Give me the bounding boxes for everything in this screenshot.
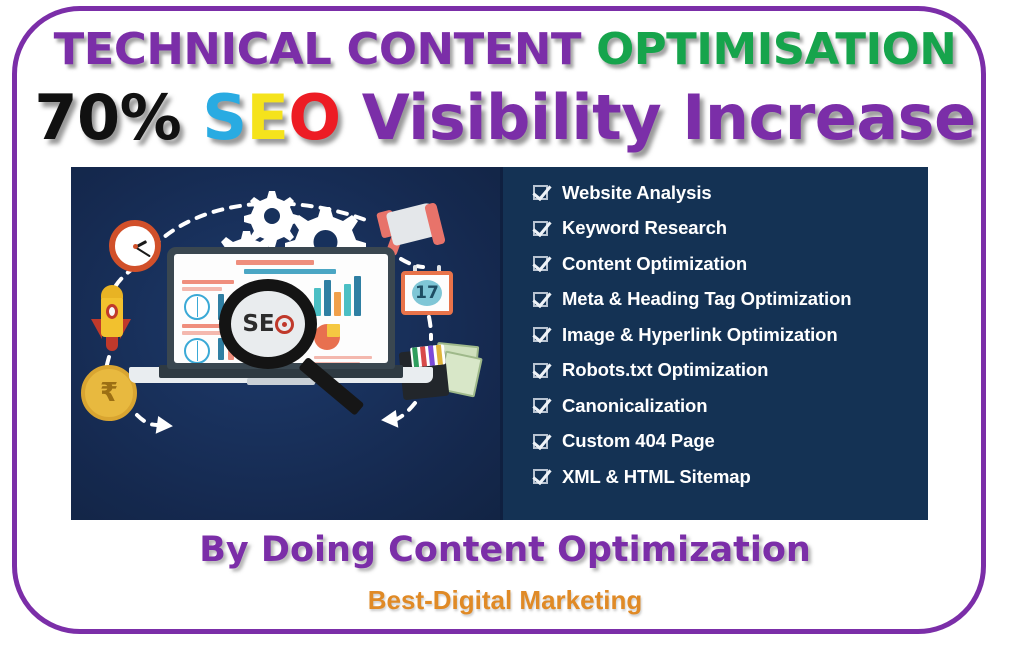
calendar-icon: 17 [401, 265, 453, 315]
rocket-icon [89, 285, 133, 355]
page-title: TECHNICAL CONTENT OPTIMISATION [0, 24, 1010, 76]
panel-divider [500, 167, 503, 520]
list-item-label: Image & Hyperlink Optimization [562, 324, 838, 346]
laptop-trackpad [247, 378, 315, 385]
rocket-nose [101, 285, 123, 298]
checkbox-checked-icon [533, 363, 548, 378]
calendar-body: 17 [401, 271, 453, 315]
headline-seo-letter-e: E [247, 81, 289, 154]
bullseye-target-icon [275, 315, 294, 334]
main-headline: 70% SEO Visibility Increase [0, 82, 1010, 154]
list-item: Keyword Research [533, 211, 923, 247]
list-item-label: Website Analysis [562, 182, 712, 204]
headline-seo-letter-o: O [288, 81, 340, 154]
checkbox-checked-icon [533, 327, 548, 342]
list-item: Meta & Heading Tag Optimization [533, 282, 923, 318]
wallet-card-4 [436, 345, 443, 365]
list-item-label: Custom 404 Page [562, 430, 715, 452]
clock-icon [109, 220, 161, 272]
list-item-label: XML & HTML Sitemap [562, 466, 751, 488]
wallet-card-2 [420, 346, 427, 366]
title-segment-technical-content: TECHNICAL CONTENT [54, 24, 596, 75]
checkbox-checked-icon [533, 469, 548, 484]
list-item-label: Meta & Heading Tag Optimization [562, 288, 852, 310]
wallet-card-3 [428, 345, 435, 365]
list-item-label: Robots.txt Optimization [562, 359, 768, 381]
list-item: Robots.txt Optimization [533, 353, 923, 389]
magnifier-se-text: SE [242, 311, 274, 337]
footer-tagline: By Doing Content Optimization [0, 530, 1010, 570]
clock-center-pin [133, 244, 138, 249]
checkbox-checked-icon [533, 256, 548, 271]
list-item-label: Keyword Research [562, 217, 727, 239]
list-item: Canonicalization [533, 388, 923, 424]
list-item: Content Optimization [533, 246, 923, 282]
illustration-left-area: ₹ [71, 167, 500, 520]
magnifier-icon: SE [219, 279, 317, 369]
wallet-card-1 [412, 347, 419, 367]
title-segment-optimisation: OPTIMISATION [596, 24, 956, 75]
rocket-flame [106, 336, 118, 351]
checkbox-checked-icon [533, 434, 548, 449]
list-item-label: Content Optimization [562, 253, 747, 275]
magnifier-seo-label: SE [242, 313, 293, 336]
list-item: XML & HTML Sitemap [533, 459, 923, 495]
checkbox-checked-icon [533, 398, 548, 413]
globe-icon-2 [184, 338, 210, 363]
feature-checklist: Website Analysis Keyword Research Conten… [533, 175, 923, 495]
checkbox-checked-icon [533, 292, 548, 307]
footer-brand: Best-Digital Marketing [0, 585, 1010, 616]
illustration-panel: ₹ [71, 167, 928, 520]
wallet-cards [410, 344, 446, 367]
rocket-window [106, 304, 118, 319]
calendar-day-number: 17 [412, 280, 442, 306]
checkbox-checked-icon [533, 185, 548, 200]
checkbox-checked-icon [533, 221, 548, 236]
seo-poster: TECHNICAL CONTENT OPTIMISATION 70% SEO V… [0, 0, 1010, 647]
globe-icon-1 [184, 294, 210, 320]
headline-percent: 70% [34, 81, 181, 154]
headline-seo-letter-s: S [202, 81, 246, 154]
list-item: Custom 404 Page [533, 424, 923, 460]
list-item: Image & Hyperlink Optimization [533, 317, 923, 353]
list-item: Website Analysis [533, 175, 923, 211]
headline-tail: Visibility Increase [362, 81, 976, 154]
list-item-label: Canonicalization [562, 395, 707, 417]
